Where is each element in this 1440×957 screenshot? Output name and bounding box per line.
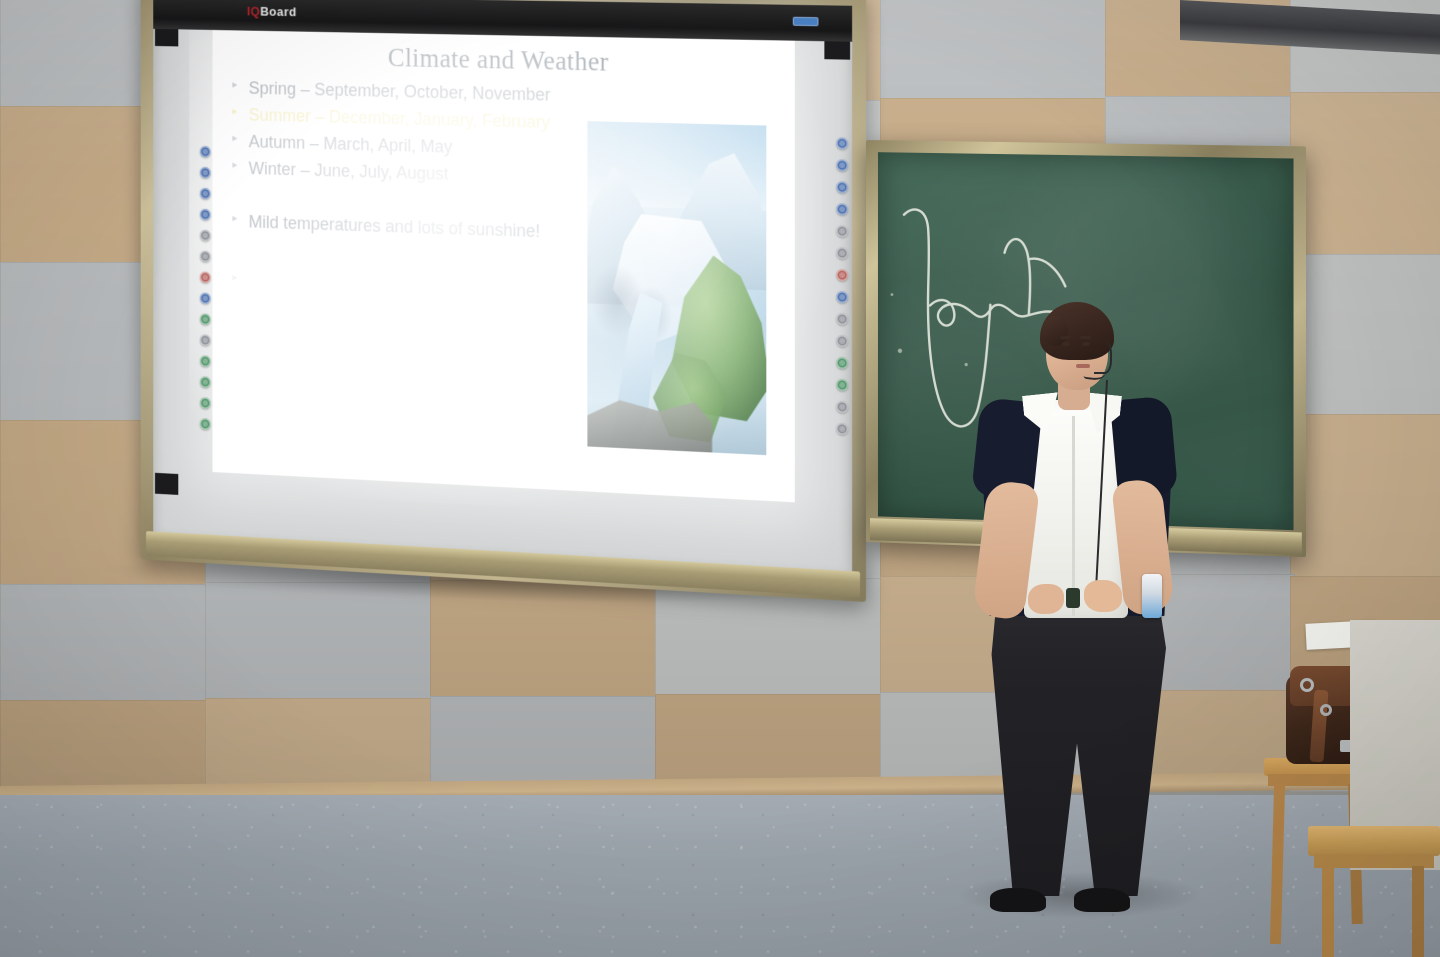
headset-microphone-boom-icon: [1083, 365, 1106, 381]
whiteboard-button-icon[interactable]: [836, 291, 848, 303]
whiteboard-status-label: [793, 17, 819, 26]
whiteboard-button-icon[interactable]: [836, 247, 848, 259]
bullet-dash: –: [311, 107, 329, 127]
handbag-ring-icon: [1300, 678, 1314, 692]
bullet-months: June, July, August: [314, 160, 448, 183]
bullet-months: September, October, November: [314, 80, 550, 105]
presentation-clicker[interactable]: [1066, 588, 1080, 608]
presenter: [966, 296, 1196, 926]
whiteboard-button-icon[interactable]: [836, 379, 848, 391]
bullet-empty-placeholder: [229, 270, 574, 298]
whiteboard-button-icon[interactable]: [836, 401, 848, 414]
presenter-shirt-placket: [1072, 416, 1075, 616]
presenter-trousers: [988, 578, 1166, 896]
stool-leg: [1322, 866, 1334, 957]
classroom-scene: Climate and Weather Spring – September, …: [0, 0, 1440, 957]
whiteboard-button-icon[interactable]: [836, 357, 848, 369]
whiteboard-corner-sensor: [155, 473, 178, 495]
bullet-months: December, January, February: [329, 107, 550, 132]
whiteboard-button-icon[interactable]: [836, 313, 848, 325]
presenter-eye-right: [1082, 342, 1090, 346]
whiteboard-button-icon[interactable]: [200, 188, 211, 200]
whiteboard-button-icon[interactable]: [836, 181, 848, 193]
whiteboard-button-icon[interactable]: [836, 137, 848, 149]
wall-tile: [430, 580, 660, 700]
bullet-season: Spring: [249, 78, 296, 98]
brand-logo-board: Board: [260, 4, 297, 19]
projected-slide: Climate and Weather Spring – September, …: [213, 28, 795, 502]
bullet-season: Winter: [249, 159, 296, 180]
presenter-shoe-left: [990, 888, 1046, 912]
whiteboard-button-icon[interactable]: [200, 271, 211, 283]
whiteboard-button-icon[interactable]: [836, 335, 848, 347]
whiteboard-right-button-column[interactable]: [836, 137, 854, 445]
whiteboard-button-icon[interactable]: [200, 292, 211, 304]
presenter-eye-left: [1062, 342, 1070, 346]
wall-tile: [1290, 414, 1440, 580]
whiteboard-button-icon[interactable]: [200, 313, 211, 325]
bullet-dash: –: [296, 160, 314, 180]
bullet-months: March, April, May: [324, 134, 453, 157]
whiteboard-button-icon[interactable]: [200, 376, 211, 388]
wireless-transmitter-pack: [1142, 574, 1162, 618]
whiteboard-button-icon[interactable]: [200, 334, 211, 346]
bullet-dash: –: [305, 133, 323, 153]
whiteboard-button-icon[interactable]: [200, 209, 211, 221]
whiteboard-button-icon[interactable]: [200, 251, 211, 263]
bullet-summary: Mild temperatures and lots of sunshine!: [229, 211, 574, 244]
whiteboard-surface[interactable]: Climate and Weather Spring – September, …: [153, 0, 852, 579]
bullet-season: Autumn: [249, 132, 306, 153]
whiteboard-button-icon[interactable]: [200, 397, 211, 409]
slide-photo-glacier: [587, 121, 766, 455]
whiteboard-button-icon[interactable]: [200, 230, 211, 242]
presenter-hand-left: [1028, 584, 1064, 614]
bullet-spring: Spring – September, October, November: [229, 78, 574, 107]
bullet-summer: Summer – December, January, February: [229, 105, 574, 135]
whiteboard-button-icon[interactable]: [200, 418, 211, 430]
whiteboard-button-icon[interactable]: [836, 225, 848, 237]
wooden-stool-front[interactable]: [1308, 826, 1440, 957]
slide-title: Climate and Weather: [213, 39, 795, 81]
brand-logo-iq: IQ: [247, 4, 260, 19]
wall-tile: [1290, 92, 1440, 258]
whiteboard-button-icon[interactable]: [836, 159, 848, 171]
photo-projector-wash: [587, 121, 766, 455]
bullet-dash: –: [296, 79, 314, 99]
wall-tile: [880, 0, 1110, 104]
stool-leg: [1270, 784, 1285, 944]
presenter-shoe-right: [1074, 888, 1130, 912]
whiteboard-button-icon[interactable]: [200, 355, 211, 367]
whiteboard-left-button-column[interactable]: [200, 146, 216, 440]
whiteboard-button-icon[interactable]: [836, 269, 848, 281]
whiteboard-brand-logo: IQBoard: [247, 4, 297, 19]
handbag-ring-icon: [1320, 704, 1332, 716]
floor: [0, 795, 1440, 957]
interactive-whiteboard[interactable]: Climate and Weather Spring – September, …: [141, 0, 866, 602]
presenter-hand-right: [1084, 580, 1122, 612]
bullet-autumn: Autumn – March, April, May: [229, 131, 574, 161]
stool-seat: [1308, 826, 1440, 856]
whiteboard-button-icon[interactable]: [836, 203, 848, 215]
wall-tile: [205, 582, 435, 702]
stool-leg: [1412, 866, 1424, 957]
whiteboard-button-icon[interactable]: [836, 423, 848, 436]
whiteboard-frame: Climate and Weather Spring – September, …: [141, 0, 866, 602]
whiteboard-button-icon[interactable]: [200, 167, 211, 179]
whiteboard-button-icon[interactable]: [200, 146, 211, 158]
wall-tile: [1290, 254, 1440, 418]
bullet-season: Summer: [249, 105, 311, 126]
bullet-winter: Winter – June, July, August: [229, 158, 574, 189]
slide-bullet-list: Spring – September, October, November Su…: [229, 78, 574, 305]
wall-tile: [0, 584, 210, 704]
